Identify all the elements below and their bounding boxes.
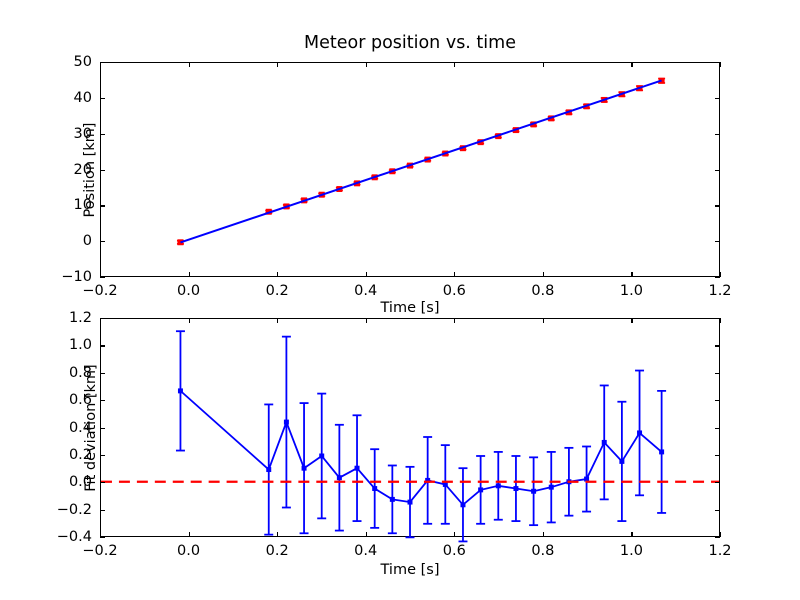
y-tick-label: 10 [22,197,92,213]
x-tick-mark [543,532,544,537]
x-tick-mark [454,272,455,277]
y-tick-label: 0.0 [22,474,92,490]
data-point-marker [513,486,518,491]
y-tick-mark [100,205,105,206]
y-tick-label: 0.8 [22,365,92,381]
y-tick-label: 1.0 [22,337,92,353]
x-tick-label: 0.0 [177,543,200,559]
x-tick-mark [189,532,190,537]
y-tick-mark [100,345,105,346]
y-tick-mark [100,277,105,278]
y-tick-mark [100,241,105,242]
x-tick-label: 1.0 [620,543,643,559]
y-tick-mark [715,510,720,511]
top-x-axis-label: Time [s] [100,300,720,316]
y-tick-label: 20 [22,162,92,178]
x-tick-mark [454,318,455,323]
y-tick-mark [100,482,105,483]
x-tick-mark [277,62,278,67]
y-tick-mark [100,62,105,63]
data-point-marker [408,500,413,505]
y-tick-label: 0.4 [22,420,92,436]
deviation-connecting-line [180,391,661,505]
y-tick-label: −0.2 [22,502,92,518]
x-tick-mark [189,62,190,67]
x-tick-label: 1.2 [708,283,731,299]
chart-title: Meteor position vs. time [100,33,720,53]
x-tick-mark [631,62,632,67]
data-point-marker [460,502,465,507]
matplotlib-figure: Meteor position vs. time Time [s] Positi… [0,0,800,600]
fit-deviation-axes [100,318,720,537]
y-tick-mark [715,318,720,319]
x-tick-mark [720,62,721,67]
data-point-marker [302,466,307,471]
data-point-marker [337,475,342,480]
x-tick-label: 0.2 [266,283,289,299]
position-plot-canvas [101,63,719,276]
y-tick-mark [100,170,105,171]
y-tick-mark [715,428,720,429]
data-point-marker [549,485,554,490]
data-point-marker [284,420,289,425]
y-tick-label: 0 [22,233,92,249]
x-tick-mark [720,532,721,537]
y-tick-label: −10 [22,269,92,285]
x-tick-mark [543,62,544,67]
x-tick-mark [366,318,367,323]
data-point-marker [355,466,360,471]
x-tick-label: −0.2 [82,283,117,299]
x-tick-label: 0.0 [177,283,200,299]
x-tick-mark [631,272,632,277]
x-tick-label: 0.4 [354,543,377,559]
data-point-marker [637,430,642,435]
y-tick-mark [100,455,105,456]
bottom-x-axis-label: Time [s] [100,562,720,578]
x-tick-mark [366,62,367,67]
x-tick-mark [366,272,367,277]
data-point-marker [372,486,377,491]
data-point-marker [319,454,324,459]
y-tick-mark [715,537,720,538]
x-tick-mark [720,272,721,277]
x-tick-mark [543,272,544,277]
y-tick-label: 0.6 [22,392,92,408]
x-tick-mark [277,318,278,323]
x-tick-mark [277,272,278,277]
y-tick-label: 0.2 [22,447,92,463]
position-vs-time-axes [100,62,720,277]
x-tick-mark [277,532,278,537]
data-point-marker [496,483,501,488]
y-tick-mark [715,134,720,135]
data-point-marker [619,459,624,464]
data-point-marker [266,467,271,472]
data-point-marker [659,449,664,454]
y-tick-label: 50 [22,54,92,70]
y-tick-mark [715,241,720,242]
x-tick-mark [454,532,455,537]
data-point-marker [478,487,483,492]
y-tick-mark [100,537,105,538]
y-tick-mark [100,373,105,374]
y-tick-mark [100,510,105,511]
data-point-marker [602,440,607,445]
x-tick-mark [631,532,632,537]
x-tick-label: 0.6 [443,543,466,559]
y-tick-mark [715,400,720,401]
x-tick-label: 0.8 [531,543,554,559]
x-tick-mark [454,62,455,67]
y-tick-mark [715,482,720,483]
x-tick-mark [189,272,190,277]
y-tick-label: 40 [22,90,92,106]
x-tick-mark [189,318,190,323]
y-tick-label: 30 [22,126,92,142]
y-tick-mark [715,98,720,99]
x-tick-label: −0.2 [82,543,117,559]
y-tick-mark [100,134,105,135]
fit-line [180,80,661,242]
y-tick-mark [715,277,720,278]
x-tick-mark [366,532,367,537]
y-tick-mark [715,345,720,346]
x-tick-mark [720,318,721,323]
x-tick-label: 1.0 [620,283,643,299]
y-tick-mark [100,428,105,429]
x-tick-label: 0.6 [443,283,466,299]
data-point-marker [531,489,536,494]
y-tick-label: −0.4 [22,529,92,545]
x-tick-label: 1.2 [708,543,731,559]
x-tick-label: 0.4 [354,283,377,299]
y-tick-mark [715,455,720,456]
x-tick-mark [543,318,544,323]
y-tick-mark [715,62,720,63]
y-tick-mark [715,170,720,171]
y-tick-mark [100,98,105,99]
x-tick-mark [631,318,632,323]
y-tick-label: 1.2 [22,310,92,326]
data-point-marker [390,497,395,502]
x-tick-label: 0.8 [531,283,554,299]
y-tick-mark [715,205,720,206]
y-tick-mark [100,318,105,319]
y-tick-mark [715,373,720,374]
deviation-plot-canvas [101,319,719,536]
y-tick-mark [100,400,105,401]
x-tick-label: 0.2 [266,543,289,559]
data-point-marker [178,388,183,393]
